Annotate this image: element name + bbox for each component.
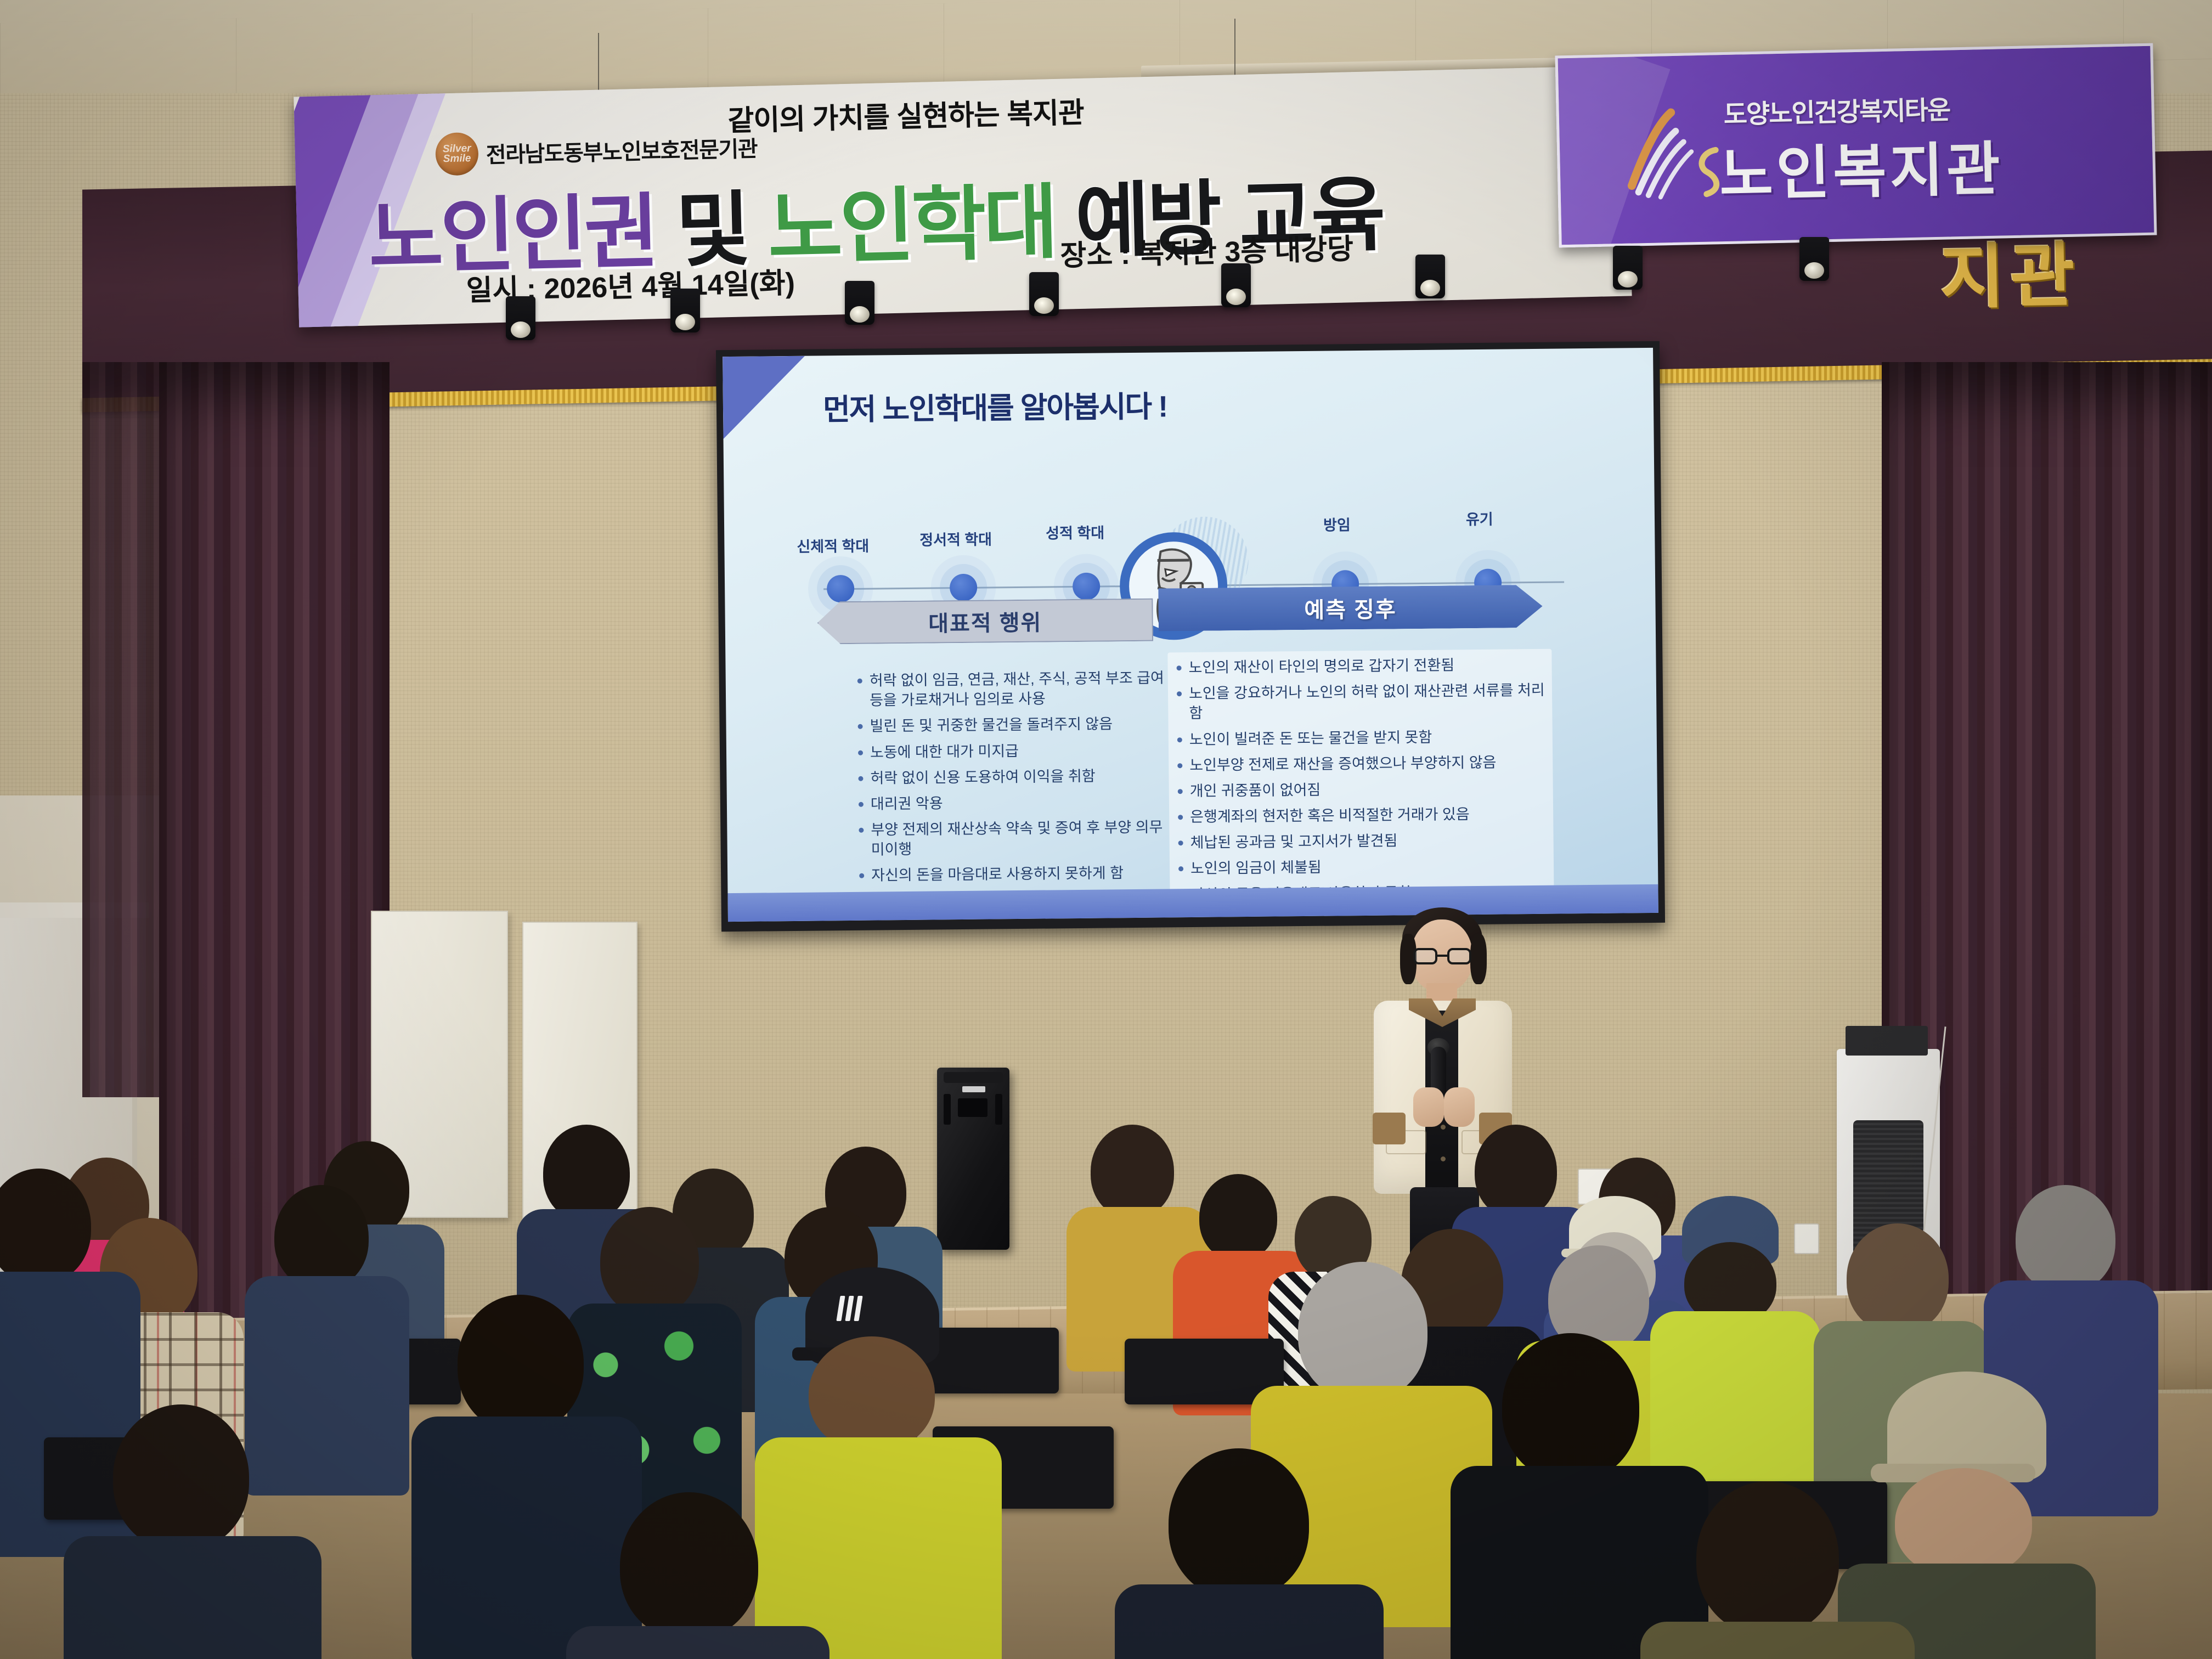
list-item: 부양 전제의 재산상속 약속 및 증여 후 부양 의무 미이행: [856, 817, 1167, 860]
list-item: 허락 없이 임금, 연금, 재산, 주식, 공적 부조 급여 등을 가로채거나 …: [855, 668, 1166, 710]
banner-subtitle: 같이의 가치를 실현하는 복지관: [727, 89, 1085, 139]
presenter-hair-right: [1470, 934, 1487, 984]
list-item: 대리권 악용: [856, 791, 1167, 814]
side-banner-main-line: 노인복지관: [1718, 121, 2004, 212]
ceiling-spotlight: [670, 289, 700, 332]
head: [1475, 1125, 1557, 1218]
timeline-label-3: 방임: [1323, 513, 1351, 534]
head: [1169, 1448, 1309, 1599]
presenter-hand-right: [1444, 1087, 1475, 1127]
presenter-hand-left: [1413, 1087, 1444, 1127]
list-item: 노인부양 전제로 재산을 증여했으나 부양하지 않음: [1175, 752, 1546, 775]
ceiling-spotlight: [1415, 255, 1445, 298]
list-item: 노동에 대한 대가 미지급: [856, 740, 1166, 763]
head: [1502, 1333, 1639, 1481]
timeline-node: [1073, 573, 1100, 600]
glasses-icon: [1413, 948, 1471, 964]
left-column-list: 허락 없이 임금, 연금, 재산, 주식, 공적 부조 급여 등을 가로채거나 …: [833, 668, 1168, 891]
head: [620, 1492, 758, 1639]
head: [274, 1185, 369, 1289]
timeline-label-0: 신체적 학대: [797, 534, 869, 556]
seminar-hall-photo: 지관 Silver Smile 전라남도동부노인보호전문기관 같이의 가치를 실…: [0, 0, 2212, 1659]
head: [809, 1336, 935, 1452]
banner-place: 장소 : 복지관 3층 대강당: [1060, 225, 1354, 274]
projection-screen: 먼저 노인학대를 알아봅시다 ! 신체적 학대 정서적 학대 성적 학대 방임 …: [723, 348, 1658, 922]
torso: [1640, 1622, 1915, 1659]
torso: [1115, 1584, 1384, 1659]
list-item: 빌린 돈 및 귀중한 물건을 돌려주지 않음: [855, 714, 1166, 737]
timeline-node: [827, 575, 854, 602]
ceiling-spotlight: [506, 296, 535, 340]
jacket-cuff-left: [1373, 1113, 1406, 1144]
head: [458, 1295, 584, 1432]
banner-wire-left: [598, 33, 599, 99]
head: [113, 1404, 249, 1550]
jacket-button: [1441, 1156, 1446, 1161]
list-item: 자신의 돈을 마음대로 사용하지 못하게 함: [857, 863, 1167, 886]
speaker-port: [958, 1098, 988, 1117]
head: [1091, 1125, 1174, 1218]
head: [543, 1125, 630, 1221]
swoosh-logo-icon: [1618, 107, 1736, 202]
timeline-label-4: 유기: [1466, 507, 1493, 529]
head: [1199, 1174, 1277, 1261]
right-column-heading: 예측 징후: [1158, 585, 1543, 631]
torso: [411, 1417, 642, 1659]
speaker-handle: [944, 1072, 1003, 1083]
list-item: 허락 없이 신용 도용하여 이익을 취함: [856, 765, 1166, 788]
ceiling-spotlight: [1029, 272, 1059, 316]
right-column-list: 노인의 재산이 타인의 명의로 갑자기 전환됨 노인을 강요하거나 노인의 허락…: [1167, 649, 1554, 916]
timeline-label-2: 성적 학대: [1046, 521, 1104, 543]
head: [2016, 1185, 2115, 1293]
list-item: 개인 귀중품이 없어짐: [1176, 778, 1547, 802]
banner-title-part-3: 노인학대: [766, 177, 1056, 274]
list-item: 노인을 강요하거나 노인의 허락 없이 재산관련 서류를 처리함: [1175, 680, 1546, 724]
timeline-node: [950, 574, 977, 601]
speaker-badge: [962, 1086, 985, 1092]
head: [1895, 1468, 2032, 1578]
logo-line-2: Smile: [443, 154, 471, 164]
head: [600, 1207, 699, 1316]
jacket-button: [1441, 1125, 1446, 1130]
ac-top-vent: [1846, 1026, 1928, 1056]
cap-stripes-icon: [838, 1296, 861, 1321]
pa-speaker: [937, 1068, 1009, 1250]
list-item: 노인이 빌려준 돈 또는 물건을 받지 못함: [1175, 726, 1546, 749]
wall-outlet[interactable]: [1794, 1223, 1819, 1254]
head: [1298, 1262, 1427, 1401]
timeline-label-1: 정서적 학대: [919, 527, 992, 549]
head: [1696, 1481, 1839, 1635]
torso: [64, 1536, 321, 1659]
head: [1847, 1223, 1949, 1333]
speaker-vent-slot: [995, 1094, 1002, 1125]
ceiling-spotlight: [1221, 263, 1251, 307]
list-item: 노인의 임금이 체불됨: [1176, 855, 1547, 879]
torso: [245, 1276, 409, 1496]
torso: [566, 1626, 830, 1659]
list-item: 은행계좌의 현저한 혹은 비적절한 거래가 있음: [1176, 804, 1547, 827]
speaker-vent-slot: [944, 1094, 951, 1125]
ceiling-spotlight: [1613, 246, 1643, 290]
ceiling-spotlight: [845, 281, 874, 325]
stage-curtain-far-left: [82, 362, 165, 1097]
slide-corner-accent: [723, 356, 805, 439]
list-item: 노인의 재산이 타인의 명의로 갑자기 전환됨: [1174, 654, 1545, 678]
slide-title: 먼저 노인학대를 알아봅시다 !: [823, 382, 1167, 428]
welfare-center-banner: 도양노인건강복지타운 노인복지관: [1555, 43, 2157, 248]
ceiling-spotlight: [1799, 237, 1829, 281]
left-column-heading: 대표적 행위: [817, 599, 1153, 645]
list-item: 체납된 공과금 및 고지서가 발견됨: [1176, 830, 1547, 853]
